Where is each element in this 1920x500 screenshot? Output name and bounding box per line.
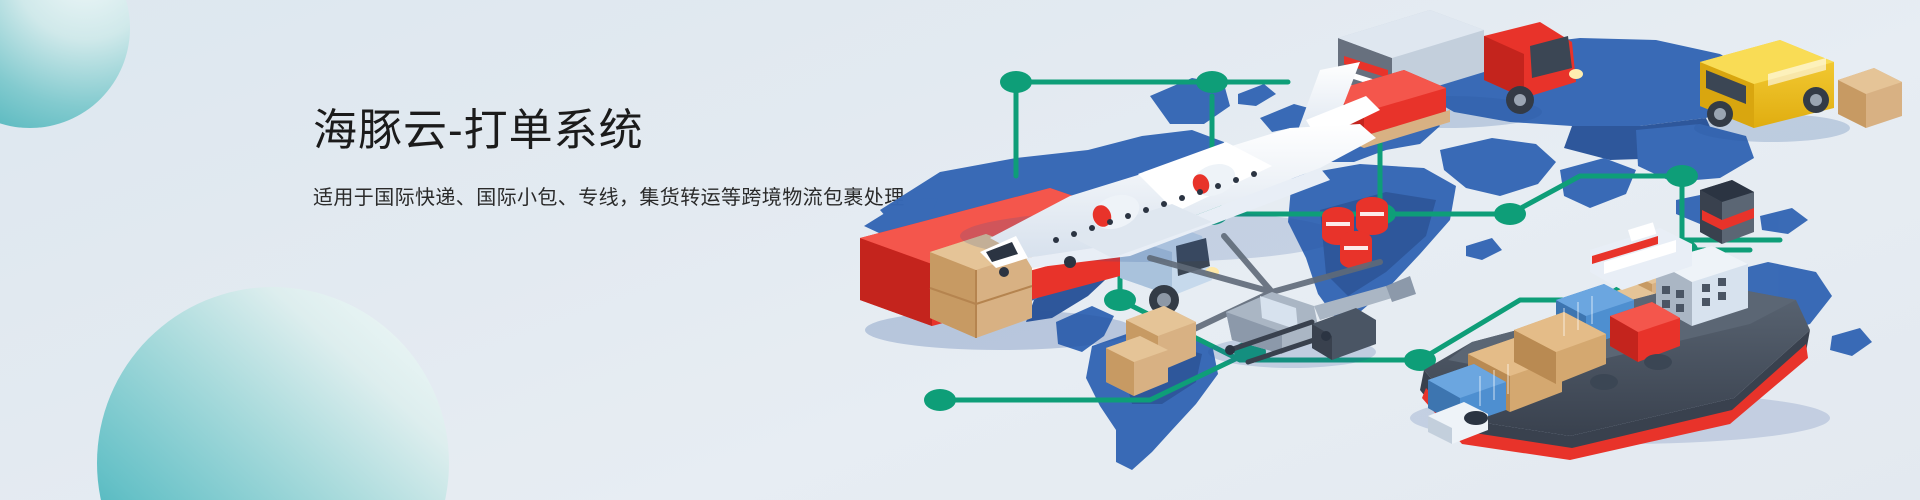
- route-node: [1666, 165, 1698, 187]
- hero-banner: 海豚云-打单系统 适用于国际快递、国际小包、专线，集货转运等跨境物流包裹处理: [0, 0, 1920, 500]
- route-node: [924, 389, 956, 411]
- decorative-circle-bottom-left: [97, 287, 449, 500]
- route-node: [1104, 289, 1136, 311]
- route-node: [1494, 203, 1526, 225]
- route-node: [1196, 71, 1228, 93]
- decorative-circle-top-left: [0, 0, 130, 128]
- route-node: [1000, 71, 1032, 93]
- logistics-illustration: [820, 0, 1920, 500]
- delivery-van-yellow: [1694, 40, 1902, 142]
